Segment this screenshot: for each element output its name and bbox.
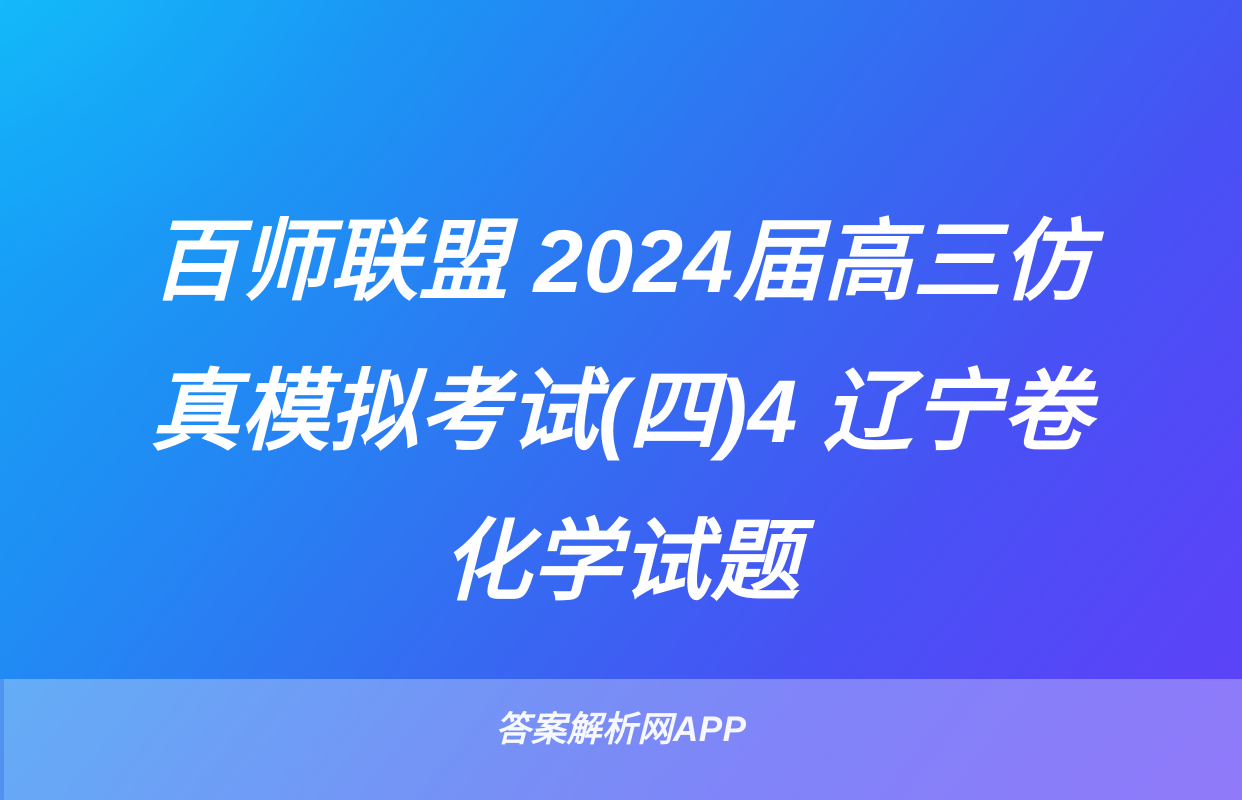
- headline-line-3: 化学试题: [74, 486, 1168, 636]
- poster-canvas: 百师联盟 2024届高三仿 真模拟考试(四)4 辽宁卷 化学试题 答案解析网AP…: [0, 0, 1242, 800]
- app-watermark: 答案解析网APP: [0, 708, 1242, 752]
- headline-line-2: 真模拟考试(四)4 辽宁卷: [74, 336, 1168, 486]
- poster-headline: 百师联盟 2024届高三仿 真模拟考试(四)4 辽宁卷 化学试题: [0, 186, 1242, 636]
- headline-line-1: 百师联盟 2024届高三仿: [74, 186, 1168, 336]
